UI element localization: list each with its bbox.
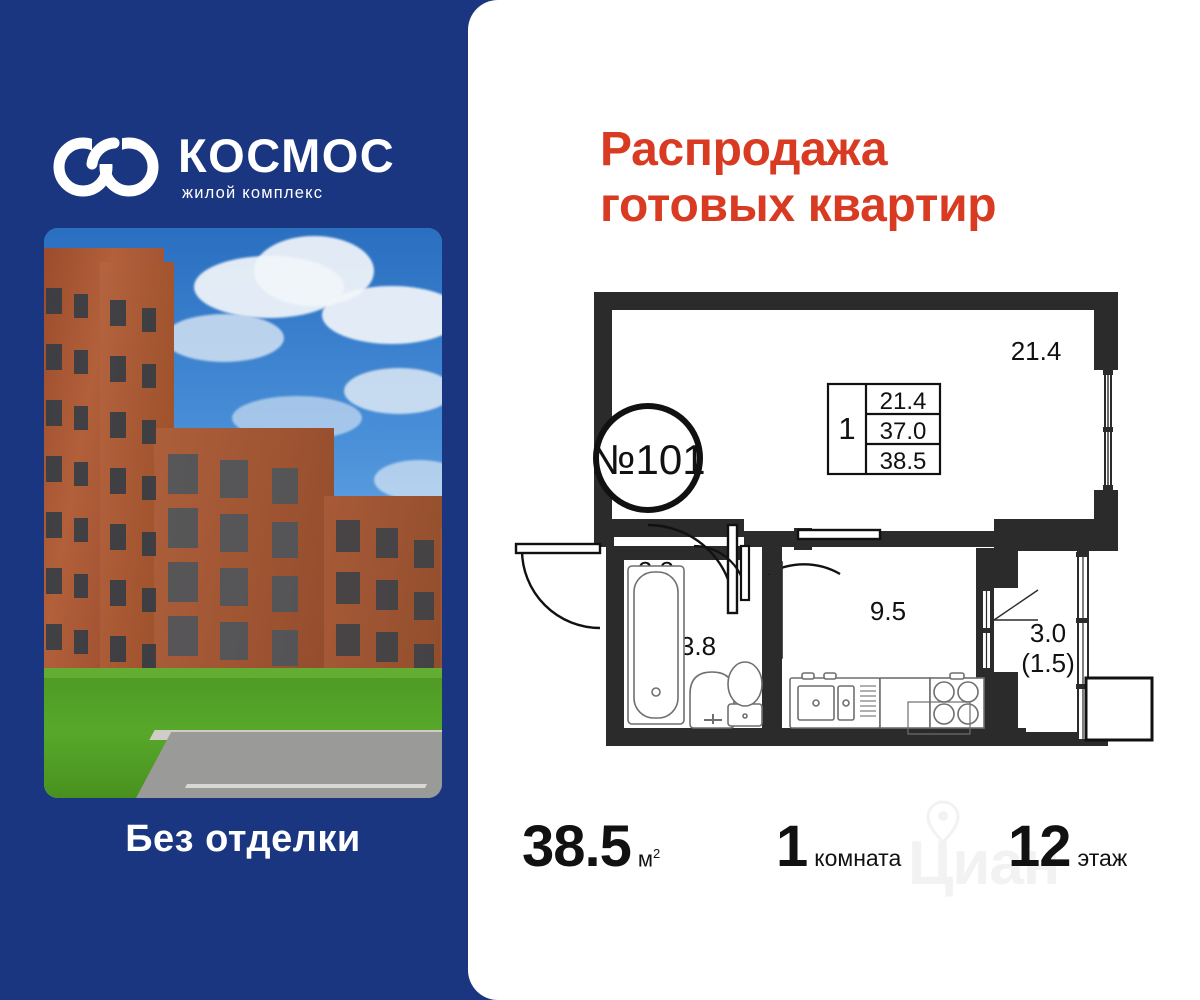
infinity-icon (52, 136, 160, 198)
toilet-icon (728, 662, 762, 726)
road (133, 732, 442, 798)
page-title: Распродажа готовых квартир (600, 122, 1120, 234)
entrance-door (516, 544, 600, 628)
room-label-balcony: 3.0 (1030, 618, 1066, 648)
floor-plan: №101 1 21.4 37.0 38.5 21.4 2.3 3.8 9.5 3… (498, 280, 1158, 780)
kitchen-sink-icon (790, 673, 880, 728)
stat-floor: 12 этаж (1008, 818, 1127, 876)
stat-area-unit: м2 (638, 847, 660, 870)
kitchen-counter (880, 678, 930, 728)
stat-rooms-unit: комната (814, 847, 901, 870)
building-photo (44, 228, 442, 798)
stat-floor-value: 12 (1008, 818, 1071, 876)
stat-area: 38.5 м2 (522, 818, 660, 876)
brand-logo: КОСМОС жилой комплекс (52, 122, 452, 212)
room-label-living-room: 21.4 (1011, 336, 1062, 366)
stat-rooms: 1 комната (776, 818, 901, 876)
headline-line-1: Распродажа (600, 122, 1120, 178)
apartment-stats: 38.5 м2 1 комната 12 этаж (498, 806, 1178, 896)
info-rooms: 1 (838, 411, 855, 446)
info-living-area: 21.4 (880, 388, 927, 415)
brand-name: КОСМОС (178, 132, 395, 179)
room-label-balcony-secondary: (1.5) (1021, 648, 1074, 678)
plan-info-table: 1 21.4 37.0 38.5 (828, 384, 940, 475)
stat-rooms-value: 1 (776, 818, 807, 876)
window-living-room (1094, 370, 1118, 490)
headline-line-2: готовых квартир (600, 178, 1120, 234)
balcony-glazing-detail (994, 590, 1038, 620)
promo-card: КОСМОС жилой комплекс (0, 0, 1200, 1000)
brand-tagline: жилой комплекс (182, 185, 395, 202)
stove-icon (930, 673, 984, 728)
info-area-no-balcony: 37.0 (880, 418, 927, 445)
road-marking (185, 784, 427, 788)
window-kitchen (980, 586, 992, 673)
balcony-door (1086, 678, 1152, 740)
stat-area-value: 38.5 (522, 818, 631, 876)
info-total-area: 38.5 (880, 448, 927, 475)
finish-caption: Без отделки (0, 818, 486, 861)
apartment-number-text: №101 (590, 436, 705, 483)
stat-floor-unit: этаж (1078, 847, 1128, 870)
room-label-bathroom: 3.8 (680, 631, 716, 661)
room-label-kitchen: 9.5 (870, 596, 906, 626)
apartment-number-badge: №101 (590, 406, 705, 510)
bathtub-icon (628, 566, 684, 724)
